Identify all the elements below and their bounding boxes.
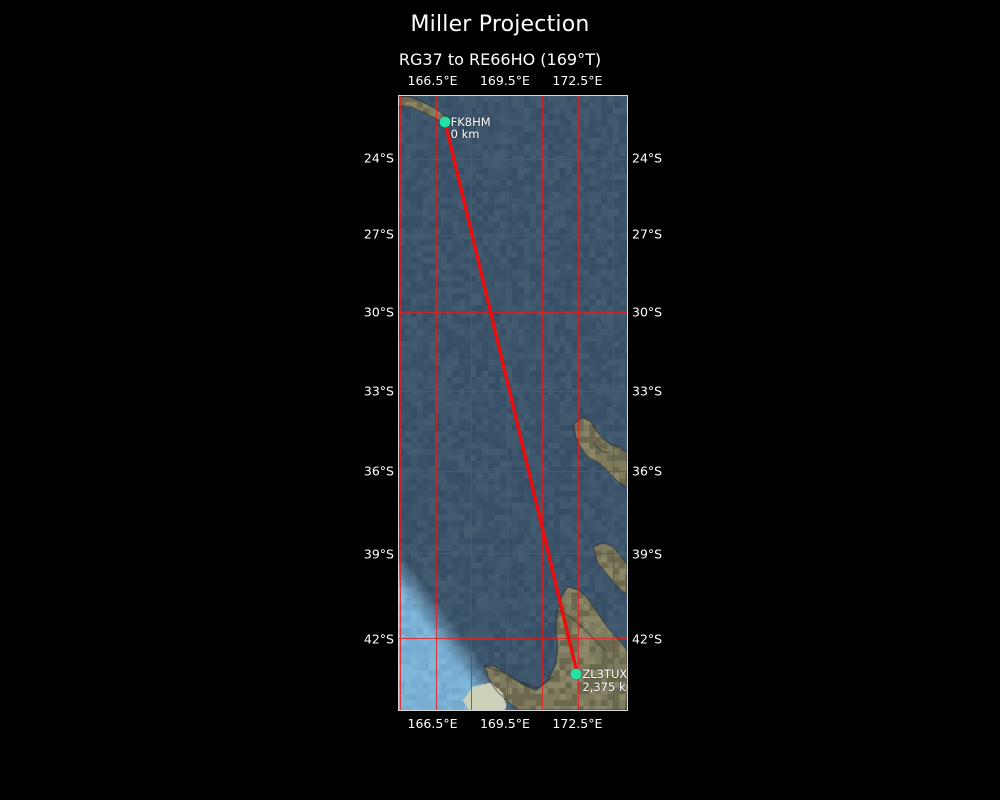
latitude-tick-label: 30°S: [364, 304, 394, 319]
longitude-tick-label: 172.5°E: [552, 716, 602, 731]
station-label-destination: ZL3TUX 2,375 km: [582, 668, 628, 693]
longitude-tick-label: 169.5°E: [480, 73, 530, 88]
station-marker-origin[interactable]: [439, 116, 450, 127]
longitude-tick-label: 172.5°E: [552, 73, 602, 88]
station-label-origin: FK8HM 0 km: [451, 116, 491, 141]
station-marker-destination[interactable]: [571, 669, 582, 680]
latitude-tick-label: 39°S: [632, 546, 662, 561]
left-latitude-axis: 24°S27°S30°S33°S36°S39°S42°S: [324, 95, 394, 711]
map-plot-area[interactable]: FK8HM 0 km ZL3TUX 2,375 km: [398, 95, 628, 711]
latitude-tick-label: 42°S: [364, 631, 394, 646]
great-circle-path-line: [445, 122, 578, 676]
latitude-tick-label: 24°S: [364, 150, 394, 165]
latitude-tick-label: 30°S: [632, 304, 662, 319]
latitude-tick-label: 36°S: [364, 463, 394, 478]
latitude-tick-label: 27°S: [364, 227, 394, 242]
great-circle-path-layer: [399, 96, 628, 711]
latitude-tick-label: 24°S: [632, 150, 662, 165]
chart-subtitle: RG37 to RE66HO (169°T): [0, 50, 1000, 69]
latitude-tick-label: 42°S: [632, 631, 662, 646]
origin-distance: 0 km: [451, 128, 491, 141]
latitude-tick-label: 27°S: [632, 227, 662, 242]
top-longitude-axis: 166.5°E169.5°E172.5°E: [398, 73, 628, 89]
longitude-tick-label: 166.5°E: [408, 73, 458, 88]
destination-distance: 2,375 km: [582, 681, 628, 694]
latitude-tick-label: 36°S: [632, 463, 662, 478]
latitude-tick-label: 33°S: [364, 384, 394, 399]
latitude-tick-label: 33°S: [632, 384, 662, 399]
longitude-tick-label: 166.5°E: [408, 716, 458, 731]
latitude-tick-label: 39°S: [364, 546, 394, 561]
page-title: Miller Projection: [0, 12, 1000, 37]
right-latitude-axis: 24°S27°S30°S33°S36°S39°S42°S: [632, 95, 702, 711]
longitude-tick-label: 169.5°E: [480, 716, 530, 731]
bottom-longitude-axis: 166.5°E169.5°E172.5°E: [398, 716, 628, 732]
